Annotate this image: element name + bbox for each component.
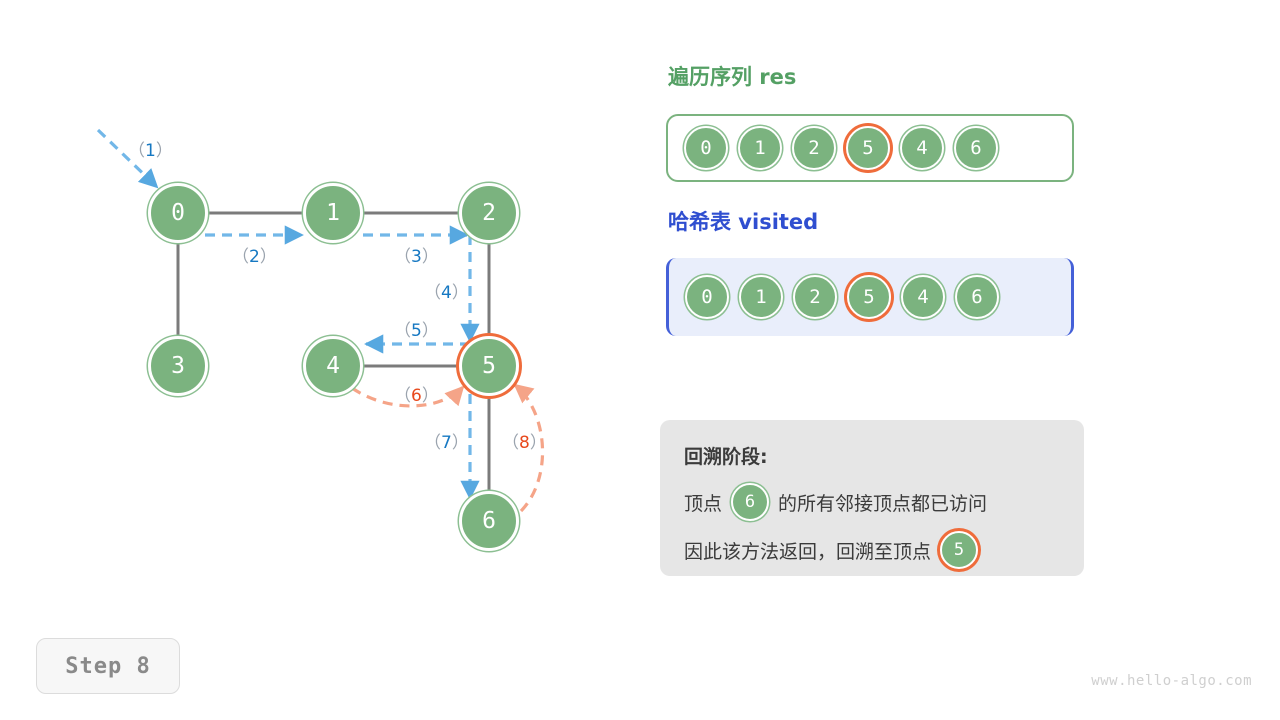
graph-node-1[interactable]: 1 (303, 183, 363, 243)
info-chip-5-highlighted: 5 (940, 531, 978, 569)
visited-cell[interactable]: 4 (901, 275, 945, 319)
graph-panel: （1） （2） （3） （4） （5） （6） （7） （8） 0 1 2 3 … (0, 0, 640, 720)
info-panel: 回溯阶段: 顶点 6 的所有邻接顶点都已访问 因此该方法返回，回溯至顶点 5 (660, 420, 1084, 576)
res-cell[interactable]: 2 (792, 126, 836, 170)
visited-cell-highlighted[interactable]: 5 (847, 275, 891, 319)
visited-cell[interactable]: 2 (793, 275, 837, 319)
info-line-1-prefix: 顶点 (684, 489, 722, 516)
visited-cell[interactable]: 6 (955, 275, 999, 319)
step-label-8: （8） (502, 428, 547, 453)
graph-node-6[interactable]: 6 (459, 491, 519, 551)
step-label-2: （2） (232, 242, 277, 267)
info-chip-6: 6 (731, 483, 769, 521)
res-array: 0 1 2 5 4 6 (666, 114, 1074, 182)
right-panel: 遍历序列 res 0 1 2 5 4 6 哈希表 visited 0 1 2 5… (640, 0, 1280, 720)
info-line-1: 顶点 6 的所有邻接顶点都已访问 (684, 483, 1060, 521)
traversal-arrows (98, 130, 470, 498)
graph-node-4[interactable]: 4 (303, 336, 363, 396)
step-label-4: （4） (424, 278, 469, 303)
visited-title: 哈希表 visited (668, 206, 818, 236)
info-line-2-prefix: 因此该方法返回，回溯至顶点 (684, 537, 931, 564)
graph-node-3[interactable]: 3 (148, 336, 208, 396)
res-cell[interactable]: 6 (954, 126, 998, 170)
step-label-7: （7） (424, 428, 469, 453)
graph-node-0[interactable]: 0 (148, 183, 208, 243)
step-label-1: （1） (128, 136, 173, 161)
res-cell[interactable]: 4 (900, 126, 944, 170)
step-label-3: （3） (394, 242, 439, 267)
info-line-1-suffix: 的所有邻接顶点都已访问 (778, 489, 987, 516)
res-cell[interactable]: 0 (684, 126, 728, 170)
visited-cell[interactable]: 0 (685, 275, 729, 319)
graph-node-5[interactable]: 5 (459, 336, 519, 396)
graph-node-2[interactable]: 2 (459, 183, 519, 243)
res-title: 遍历序列 res (668, 61, 796, 91)
visited-cell[interactable]: 1 (739, 275, 783, 319)
step-label-6: （6） (394, 381, 439, 406)
res-cell-highlighted[interactable]: 5 (846, 126, 890, 170)
info-line-2: 因此该方法返回，回溯至顶点 5 (684, 531, 1060, 569)
res-cell[interactable]: 1 (738, 126, 782, 170)
visited-array: 0 1 2 5 4 6 (666, 258, 1074, 336)
step-badge: Step 8 (36, 638, 180, 694)
info-heading: 回溯阶段: (684, 442, 1060, 469)
watermark: www.hello-algo.com (1091, 673, 1252, 689)
step-label-5: （5） (394, 316, 439, 341)
